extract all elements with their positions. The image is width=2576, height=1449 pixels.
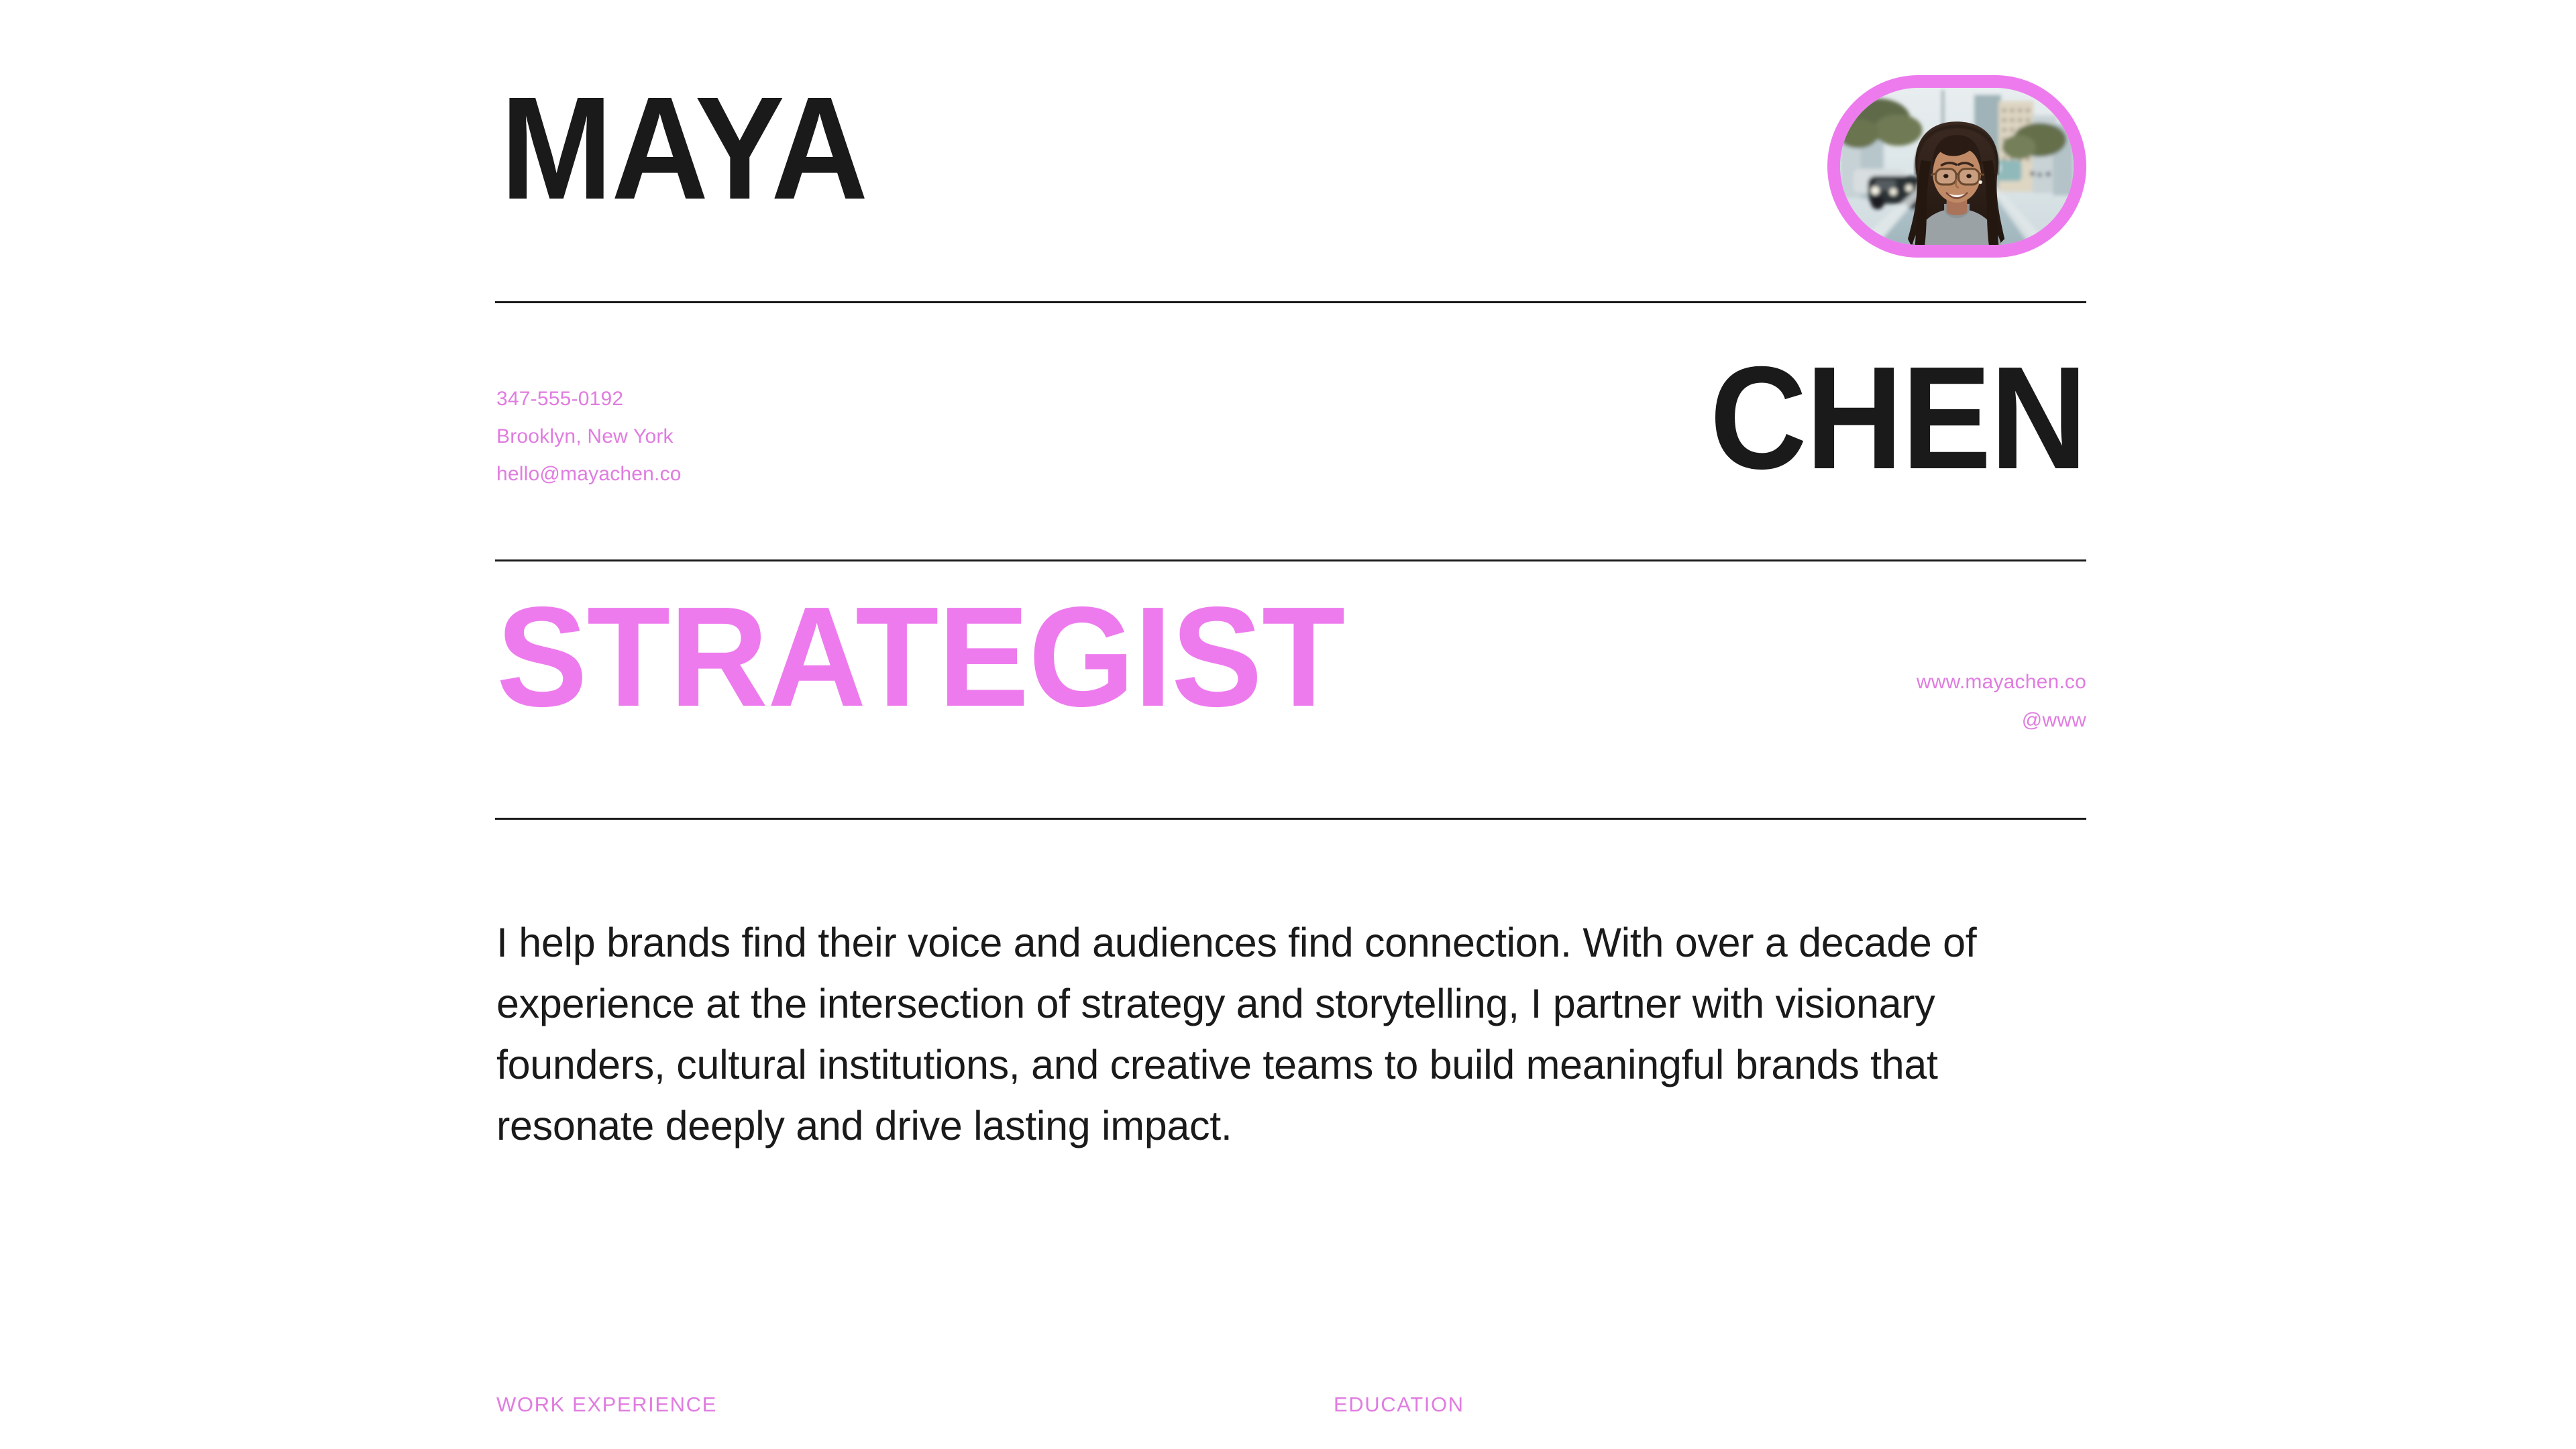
section-label-work-experience: WORK EXPERIENCE (496, 1393, 717, 1417)
job-title: STRATEGIST (496, 596, 1344, 718)
portrait-image (1840, 88, 2074, 245)
website-link[interactable]: www.mayachen.co (1409, 663, 2086, 701)
first-name: MAYA (500, 86, 867, 211)
profile-photo (1827, 75, 2086, 258)
social-handle[interactable]: @www (1409, 701, 2086, 739)
section-label-education: EDUCATION (1334, 1393, 1464, 1417)
resume-page: MAYA (0, 0, 2576, 1449)
divider-3 (495, 818, 2086, 820)
last-name-container: CHEN (495, 356, 2086, 481)
bio-paragraph: I help brands find their voice and audie… (496, 912, 2100, 1157)
divider-1 (495, 301, 2086, 303)
web-links-block: www.mayachen.co @www (1409, 663, 2086, 739)
divider-2 (495, 559, 2086, 561)
last-name: CHEN (1710, 356, 2086, 481)
